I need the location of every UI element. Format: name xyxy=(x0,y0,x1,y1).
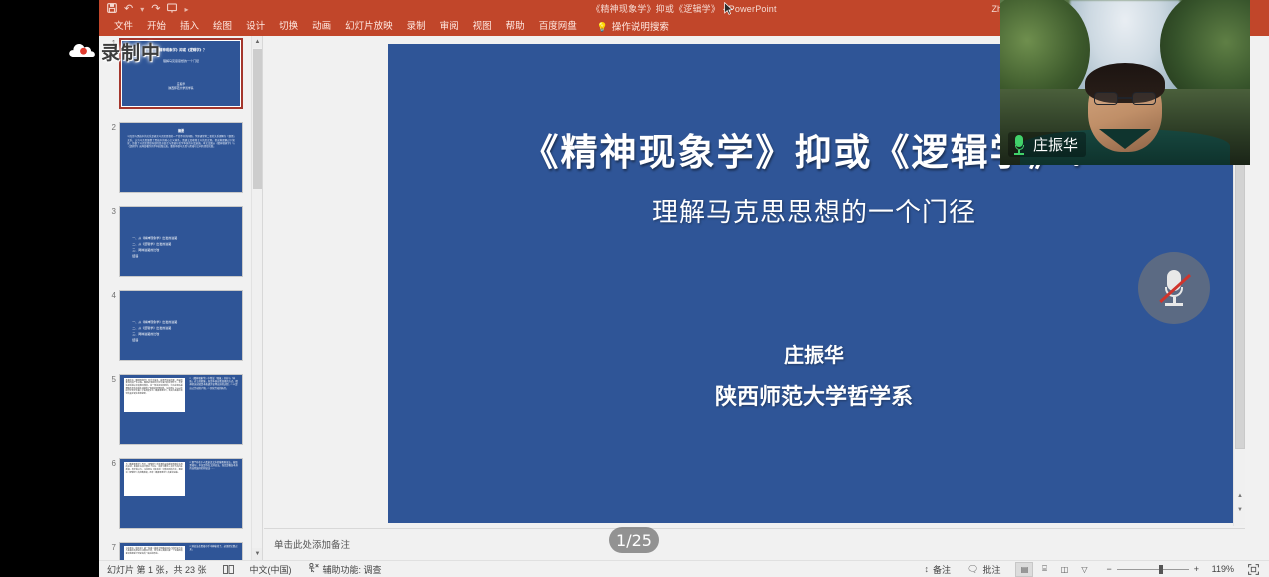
undo-icon[interactable]: ↶ xyxy=(124,4,133,15)
thumbnail-row[interactable]: 3 一、从《精神现象学》出发的进路 二、从《逻辑学》出发的进路 三、两种进路的比… xyxy=(99,205,262,288)
thumbnail-row[interactable]: 4 一、从《精神现象学》出发的进路 二、从《逻辑学》出发的进路 三、两种进路的比… xyxy=(99,289,262,372)
slide-count-label: 幻灯片 第 1 张，共 23 张 xyxy=(99,563,215,576)
slide-thumbnail-6[interactable]: 与《精神现象学》不同，《逻辑学》所处理的是纯粹思维规定自身的运动。黑格尔在其中展… xyxy=(119,458,243,529)
thumb-list: 一、从《精神现象学》出发的进路 二、从《逻辑学》出发的进路 三、两种进路的比较 … xyxy=(132,235,235,260)
ribbon-tab-file[interactable]: 文件 xyxy=(107,18,140,36)
desktop-backdrop-left xyxy=(0,0,99,577)
notes-icon: ↕ xyxy=(925,564,930,574)
thumbnail-row[interactable]: 2 摘要 马克思与黑格尔的关系是研究马克思思想的一个绕不开的问题。学界通常将二者… xyxy=(99,121,262,204)
slide-author-text[interactable]: 庄振华 xyxy=(388,339,1240,368)
notes-pane[interactable]: 单击此处添加备注 xyxy=(264,528,1245,560)
ribbon-tab-view[interactable]: 视图 xyxy=(466,18,499,36)
zoom-control: − + 119% xyxy=(1100,564,1240,575)
ribbon-tab-review[interactable]: 审阅 xyxy=(433,18,466,36)
scrollbar-thumb[interactable] xyxy=(253,49,262,189)
self-view-video-panel[interactable]: 庄振华 xyxy=(1000,0,1250,165)
thumbnail-number: 5 xyxy=(103,375,116,384)
slide-thumbnail-pane[interactable]: 1 《精神现象学》抑或《逻辑学》？ 理解马克思思想的一个门径 庄振华 陕西师范大… xyxy=(99,36,263,560)
comments-label: 批注 xyxy=(982,563,1000,576)
start-presentation-icon[interactable] xyxy=(167,3,177,16)
reading-view-button[interactable]: ◫ xyxy=(1055,562,1073,577)
view-switcher: ▤ ⌸ ◫ ▽ xyxy=(1008,562,1100,577)
lightbulb-icon: 💡 xyxy=(597,18,608,36)
ribbon-tab-transitions[interactable]: 切换 xyxy=(272,18,305,36)
redo-icon[interactable]: ↷ xyxy=(151,4,160,15)
thumbnail-number: 3 xyxy=(103,207,116,216)
comment-bubble-icon: 🗨 xyxy=(967,564,978,575)
fit-to-window-button[interactable] xyxy=(1240,564,1269,575)
zoom-in-button[interactable]: + xyxy=(1194,564,1199,574)
slide-thumbnail-4[interactable]: 一、从《精神现象学》出发的进路 二、从《逻辑学》出发的进路 三、两种进路的比较 … xyxy=(119,290,243,361)
accessibility-icon xyxy=(308,563,319,575)
comments-toggle-button[interactable]: 🗨 批注 xyxy=(959,563,1008,576)
zoom-out-button[interactable]: − xyxy=(1106,564,1111,574)
thumbnail-row[interactable]: 6 与《精神现象学》不同，《逻辑学》所处理的是纯粹思维规定自身的运动。黑格尔在其… xyxy=(99,457,262,540)
zoom-percent-label[interactable]: 119% xyxy=(1204,564,1234,574)
zoom-slider[interactable] xyxy=(1117,564,1189,575)
scroll-down-arrow-icon[interactable]: ▼ xyxy=(252,548,263,560)
thumb-left-text: 黑格尔在《精神现象学》序言中指出，真理不仅是结果，而是结果连同其产生过程。精神必… xyxy=(124,378,185,413)
ribbon-tab-design[interactable]: 设计 xyxy=(239,18,272,36)
thumb-author: 庄振华 陕西师范大学哲学系 xyxy=(131,82,232,92)
quick-access-toolbar: ↶ ▾ ↷ ▸ xyxy=(107,0,188,18)
slide-thumbnail-5[interactable]: 黑格尔在《精神现象学》序言中指出，真理不仅是结果，而是结果连同其产生过程。精神必… xyxy=(119,374,243,445)
status-bar: 幻灯片 第 1 张，共 23 张 中文(中国) 辅助功能: 调查 ↕ 备注 🗨 … xyxy=(99,560,1269,577)
slide-thumbnail-7[interactable]: 马克思在《资本论》第一卷第二版跋中明确谈到自己的辩证方法与黑格尔的辩证方法根本不… xyxy=(119,542,243,560)
participant-name-badge: 庄振华 xyxy=(1008,132,1086,157)
microphone-active-icon xyxy=(1012,135,1026,154)
normal-view-button[interactable]: ▤ xyxy=(1015,562,1033,577)
recording-overlay-label: 录制中 xyxy=(101,38,161,65)
thumbnail-number: 4 xyxy=(103,291,116,300)
ribbon-tab-insert[interactable]: 插入 xyxy=(173,18,206,36)
ribbon-tab-baidu-netdisk[interactable]: 百度网盘 xyxy=(532,18,584,36)
thumb-right-text: □ 《精神现象学》中所说「现象」并非与「本质」对立的假象，而是本质自我显现的方式… xyxy=(190,378,239,391)
slide-affiliation-text[interactable]: 陕西师范大学哲学系 xyxy=(388,379,1240,411)
tell-me-label: 操作说明搜索 xyxy=(612,22,669,33)
participant-name-label: 庄振华 xyxy=(1033,134,1078,155)
save-icon[interactable] xyxy=(107,3,117,16)
ribbon-tab-animations[interactable]: 动画 xyxy=(305,18,338,36)
thumbnail-row[interactable]: 5 黑格尔在《精神现象学》序言中指出，真理不仅是结果，而是结果连同其产生过程。精… xyxy=(99,373,262,456)
video-person-glasses xyxy=(1094,92,1156,106)
accessibility-status[interactable]: 辅助功能: 调查 xyxy=(300,563,390,576)
thumb-right-text: □ 辩证法在黑格尔手中神秘化了，必须把它倒过来。 xyxy=(190,546,239,553)
cloud-recording-icon xyxy=(68,41,96,59)
screen-root: 《精神现象学》抑或《逻辑学》 - PowerPoint ↶ ▾ ↷ ▸ Zhua… xyxy=(0,0,1269,577)
mute-microphone-button[interactable] xyxy=(1138,252,1210,324)
notes-toggle-button[interactable]: ↕ 备注 xyxy=(917,563,960,576)
thumb-left-text: 马克思在《资本论》第一卷第二版跋中明确谈到自己的辩证方法与黑格尔的辩证方法根本不… xyxy=(124,546,185,560)
ribbon-tab-home[interactable]: 开始 xyxy=(140,18,173,36)
thumb-left-text: 与《精神现象学》不同，《逻辑学》所处理的是纯粹思维规定自身的运动。黑格尔在其中展… xyxy=(124,462,185,497)
mouse-cursor-icon xyxy=(724,2,733,15)
undo-dropdown-icon[interactable]: ▾ xyxy=(140,4,144,15)
accessibility-label: 辅助功能: 调查 xyxy=(323,563,382,576)
slide-sorter-button[interactable]: ⌸ xyxy=(1035,562,1053,577)
slide-subtitle-text[interactable]: 理解马克思思想的一个门径 xyxy=(388,192,1240,229)
thumb-body: 马克思与黑格尔的关系是研究马克思思想的一个绕不开的问题。学界通常将二者的关系理解… xyxy=(127,135,234,148)
zoom-slider-handle[interactable] xyxy=(1159,565,1163,574)
ribbon-tab-record[interactable]: 录制 xyxy=(400,18,433,36)
layout-icon[interactable] xyxy=(215,565,242,574)
customize-qat-icon[interactable]: ▸ xyxy=(184,4,188,15)
thumbnail-number: 7 xyxy=(103,543,116,552)
notes-label: 备注 xyxy=(933,563,951,576)
thumbnail-row[interactable]: 7 马克思在《资本论》第一卷第二版跋中明确谈到自己的辩证方法与黑格尔的辩证方法根… xyxy=(99,541,262,560)
ribbon-tab-draw[interactable]: 绘图 xyxy=(206,18,239,36)
slide-thumbnail-3[interactable]: 一、从《精神现象学》出发的进路 二、从《逻辑学》出发的进路 三、两种进路的比较 … xyxy=(119,206,243,277)
thumb-right-text: □ 那个存在于人类意识之外的客观辩证法，按照黑格尔，不仅是存在之辩证法，而且是概… xyxy=(190,462,239,472)
slideshow-button[interactable]: ▽ xyxy=(1075,562,1093,577)
microphone-muted-icon xyxy=(1161,270,1187,306)
language-indicator[interactable]: 中文(中国) xyxy=(242,563,300,576)
scroll-up-arrow-icon[interactable]: ▲ xyxy=(252,36,263,48)
thumbnail-number: 2 xyxy=(103,123,116,132)
zoom-slider-track xyxy=(1117,569,1189,570)
ribbon-tab-slideshow[interactable]: 幻灯片放映 xyxy=(338,18,400,36)
thumbnail-pane-scrollbar[interactable]: ▲ ▼ xyxy=(251,36,262,560)
tell-me-search[interactable]: 💡操作说明搜索 xyxy=(584,18,676,36)
ribbon-tab-help[interactable]: 帮助 xyxy=(499,18,532,36)
slide-thumbnail-2[interactable]: 摘要 马克思与黑格尔的关系是研究马克思思想的一个绕不开的问题。学界通常将二者的关… xyxy=(119,122,243,193)
thumb-list: 一、从《精神现象学》出发的进路 二、从《逻辑学》出发的进路 三、两种进路的比较 … xyxy=(132,319,235,344)
page-indicator: 1/25 xyxy=(609,527,659,553)
notes-placeholder-text[interactable]: 单击此处添加备注 xyxy=(274,537,350,551)
thumb-heading: 摘要 xyxy=(120,128,242,133)
previous-slide-icon[interactable]: ▲ xyxy=(1234,490,1246,502)
thumbnail-number: 6 xyxy=(103,459,116,468)
next-slide-icon[interactable]: ▼ xyxy=(1234,504,1246,516)
